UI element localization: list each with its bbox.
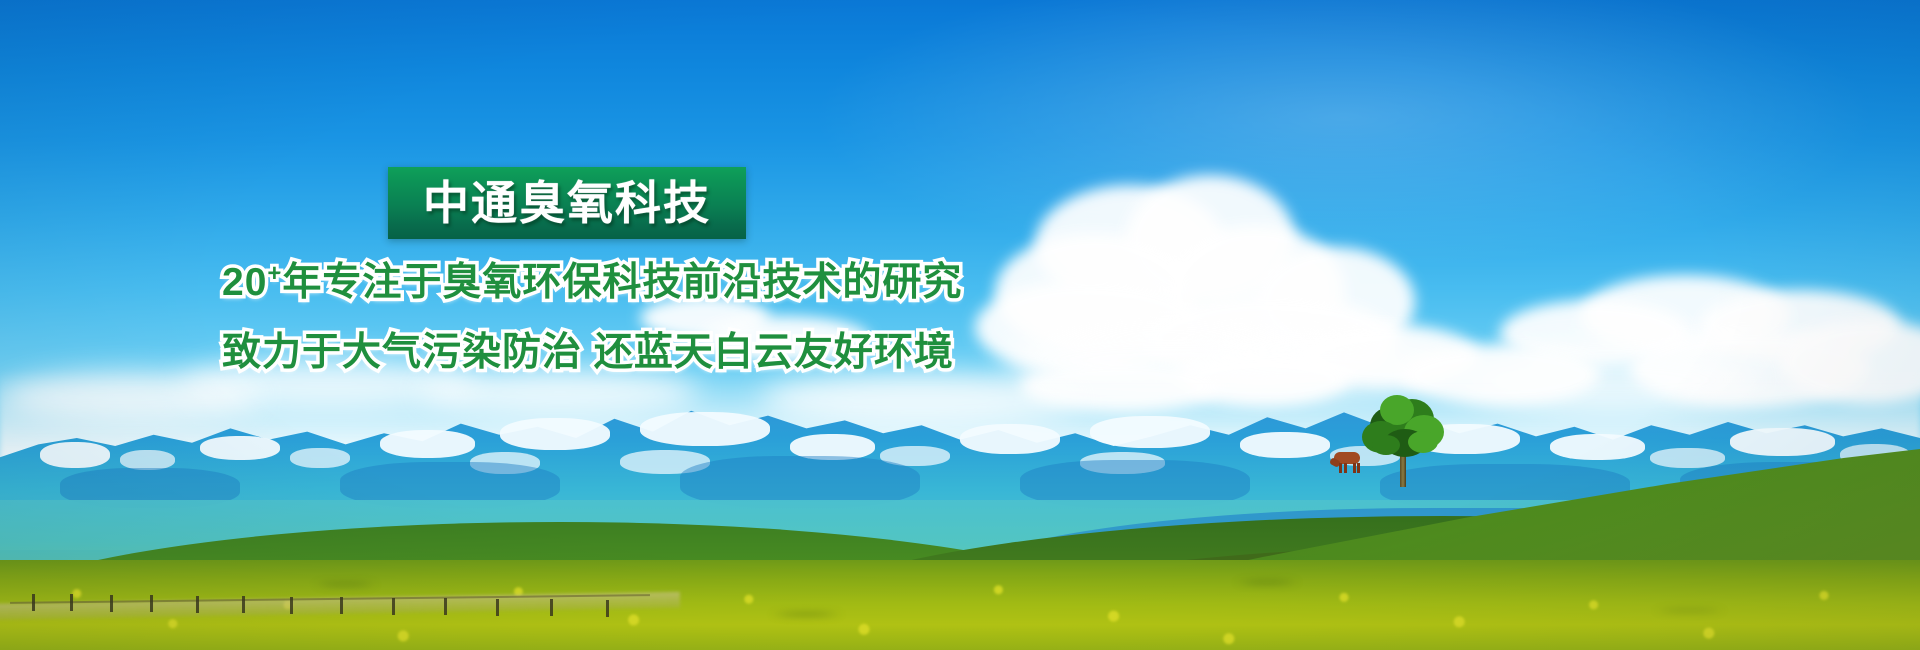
hero-banner: 中通臭氧科技 20+年专注于臭氧环保科技前沿技术的研究 致力于大气污染防治 还蓝… xyxy=(0,0,1920,650)
tagline-years-number: 20 xyxy=(222,261,267,304)
tagline-line-1-rest: 年专注于臭氧环保科技前沿技术的研究 xyxy=(282,261,962,304)
tagline-line-2: 致力于大气污染防治 还蓝天白云友好环境 xyxy=(222,333,954,372)
tagline-plus-superscript: + xyxy=(267,260,282,287)
brand-title-text: 中通臭氧科技 xyxy=(423,180,711,226)
brand-title-badge: 中通臭氧科技 xyxy=(388,167,746,239)
banner-text-block: 中通臭氧科技 20+年专注于臭氧环保科技前沿技术的研究 致力于大气污染防治 还蓝… xyxy=(0,0,1920,650)
tagline-line-1: 20+年专注于臭氧环保科技前沿技术的研究 xyxy=(222,263,962,302)
